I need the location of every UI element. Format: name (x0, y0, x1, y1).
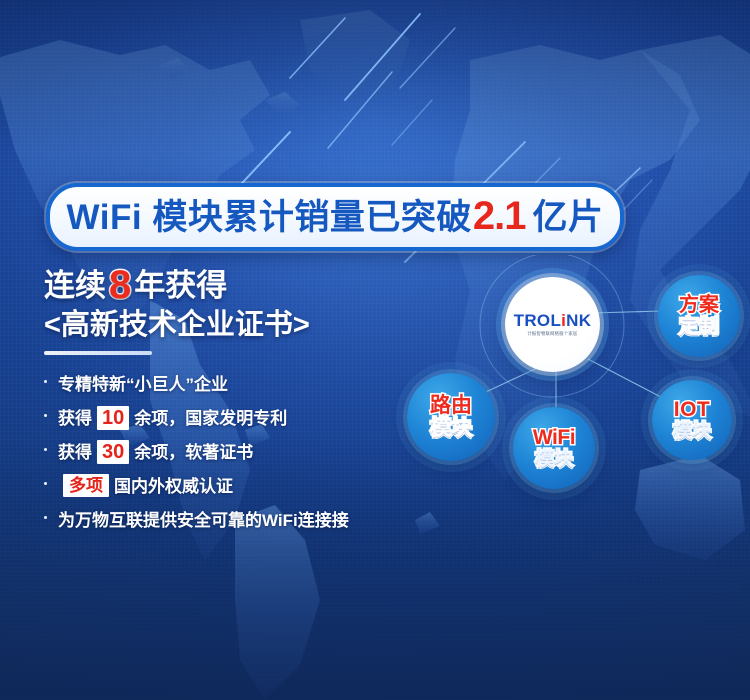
bullet-text-before: 获得 (58, 438, 92, 463)
node-router-module: 路由 模块 (407, 373, 495, 461)
list-item: 专精特新“小巨人”企业 (44, 370, 424, 395)
award-headline-line1: 连续8年获得 (44, 262, 424, 304)
list-item: 多项 国内外权威认证 (44, 472, 424, 497)
award-suffix: 年获得 (134, 268, 227, 303)
node-subtitle: 模块 (673, 422, 711, 442)
node-title: WiFi (533, 427, 575, 449)
node-title: IOT (674, 399, 711, 421)
achievements-list: 专精特新“小巨人”企业 获得 10 余项，国家发明专利 获得 30 余项，软著证… (44, 370, 424, 531)
bullet-text-before: 专精特新“小巨人”企业 (58, 370, 228, 395)
node-subtitle: 定制 (679, 317, 719, 338)
list-item: 获得 10 余项，国家发明专利 (44, 404, 424, 429)
node-wifi-module: WiFi 模块 (513, 407, 595, 489)
bullet-dot-icon (44, 482, 47, 485)
network-diagram: TROLiNK 计报智物联网络服个家居 方案 定制 路由 模块 WiFi 模块 … (380, 255, 750, 525)
list-item: 为万物互联提供安全可靠的WiFi连接接 (44, 506, 424, 531)
bullet-text-after: 余项，软著证书 (134, 438, 253, 463)
bullet-text-after: 余项，国家发明专利 (134, 404, 287, 429)
list-item: 获得 30 余项，软著证书 (44, 438, 424, 463)
headline-pill: WiFi 模块累计销量已突破2.1亿片 (46, 183, 624, 251)
headline-prefix: WiFi 模块累计销量已突破 (67, 198, 472, 237)
node-title: 路由 (430, 395, 472, 417)
bullet-count-chip: 10 (97, 406, 129, 430)
brand-logo-part2: NK (566, 311, 591, 330)
left-content-column: 连续8年获得 <高新技术企业证书> 专精特新“小巨人”企业 获得 10 余项，国… (44, 262, 424, 547)
bullet-dot-icon (44, 448, 47, 451)
headline-text: WiFi 模块累计销量已突破2.1亿片 (67, 196, 604, 236)
divider-rule (44, 351, 152, 355)
node-subtitle: 模块 (430, 418, 472, 440)
brand-logo-part1: TROL (514, 311, 561, 330)
award-year-number: 8 (106, 264, 134, 306)
bullet-count-chip: 多项 (63, 474, 109, 497)
hub-logo-circle: TROLiNK 计报智物联网络服个家居 (505, 277, 600, 372)
award-prefix: 连续 (44, 268, 106, 303)
brand-tagline: 计报智物联网络服个家居 (527, 332, 577, 336)
bullet-dot-icon (44, 516, 47, 519)
bullet-dot-icon (44, 380, 47, 383)
headline-number: 2.1 (472, 194, 527, 238)
bullet-count-chip: 30 (97, 440, 129, 464)
node-iot-module: IOT 模块 (652, 380, 732, 460)
node-title: 方案 (679, 295, 719, 316)
bullet-dot-icon (44, 414, 47, 417)
brand-logo: TROLiNK (514, 312, 592, 329)
node-scheme-custom: 方案 定制 (658, 275, 740, 357)
bullet-text-before: 获得 (58, 404, 92, 429)
bullet-text-after: 国内外权威认证 (114, 472, 233, 497)
bullet-text-before: 为万物互联提供安全可靠的WiFi连接接 (58, 506, 349, 531)
award-certificate-title: <高新技术企业证书> (44, 310, 424, 340)
headline-suffix: 亿片 (532, 198, 603, 237)
promo-banner-stage: WiFi 模块累计销量已突破2.1亿片 连续8年获得 <高新技术企业证书> 专精… (0, 0, 750, 700)
node-subtitle: 模块 (535, 450, 573, 470)
